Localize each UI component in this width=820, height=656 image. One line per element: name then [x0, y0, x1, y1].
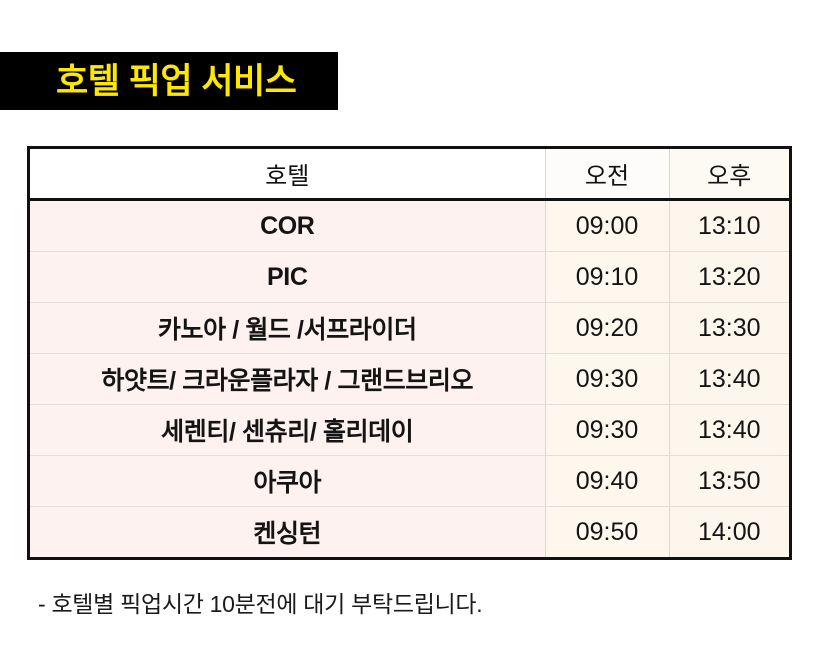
footnote-text: - 호텔별 픽업시간 10분전에 대기 부탁드립니다.	[38, 585, 482, 619]
table-row: PIC 09:10 13:20	[30, 252, 789, 303]
cell-hotel: COR	[30, 200, 545, 252]
cell-pm-time: 13:50	[669, 456, 789, 507]
column-header-am: 오전	[545, 149, 669, 200]
table-row: 카노아 / 월드 /서프라이더 09:20 13:30	[30, 303, 789, 354]
page-title: 호텔 픽업 서비스	[0, 64, 296, 99]
table-row: 하얏트/ 크라운플라자 / 그랜드브리오 09:30 13:40	[30, 354, 789, 405]
table-row: COR 09:00 13:10	[30, 200, 789, 252]
cell-am-time: 09:40	[545, 456, 669, 507]
cell-pm-time: 13:30	[669, 303, 789, 354]
table-row: 켄싱턴 09:50 14:00	[30, 507, 789, 558]
cell-pm-time: 13:20	[669, 252, 789, 303]
table-row: 세렌티/ 센츄리/ 홀리데이 09:30 13:40	[30, 405, 789, 456]
cell-pm-time: 13:40	[669, 354, 789, 405]
cell-hotel: 카노아 / 월드 /서프라이더	[30, 303, 545, 354]
cell-pm-time: 13:40	[669, 405, 789, 456]
cell-am-time: 09:30	[545, 354, 669, 405]
column-header-hotel: 호텔	[30, 149, 545, 200]
cell-am-time: 09:10	[545, 252, 669, 303]
cell-am-time: 09:00	[545, 200, 669, 252]
cell-pm-time: 14:00	[669, 507, 789, 558]
table-body: COR 09:00 13:10 PIC 09:10 13:20 카노아 / 월드…	[30, 200, 789, 558]
cell-am-time: 09:30	[545, 405, 669, 456]
cell-am-time: 09:50	[545, 507, 669, 558]
table-header-row: 호텔 오전 오후	[30, 149, 789, 200]
pickup-schedule-table: 호텔 오전 오후 COR 09:00 13:10 PIC 09:10 13:20…	[27, 146, 792, 560]
cell-hotel: PIC	[30, 252, 545, 303]
cell-hotel: 아쿠아	[30, 456, 545, 507]
column-header-pm: 오후	[669, 149, 789, 200]
table-row: 아쿠아 09:40 13:50	[30, 456, 789, 507]
cell-pm-time: 13:10	[669, 200, 789, 252]
title-banner: 호텔 픽업 서비스	[0, 52, 338, 110]
cell-am-time: 09:20	[545, 303, 669, 354]
cell-hotel: 켄싱턴	[30, 507, 545, 558]
cell-hotel: 세렌티/ 센츄리/ 홀리데이	[30, 405, 545, 456]
cell-hotel: 하얏트/ 크라운플라자 / 그랜드브리오	[30, 354, 545, 405]
